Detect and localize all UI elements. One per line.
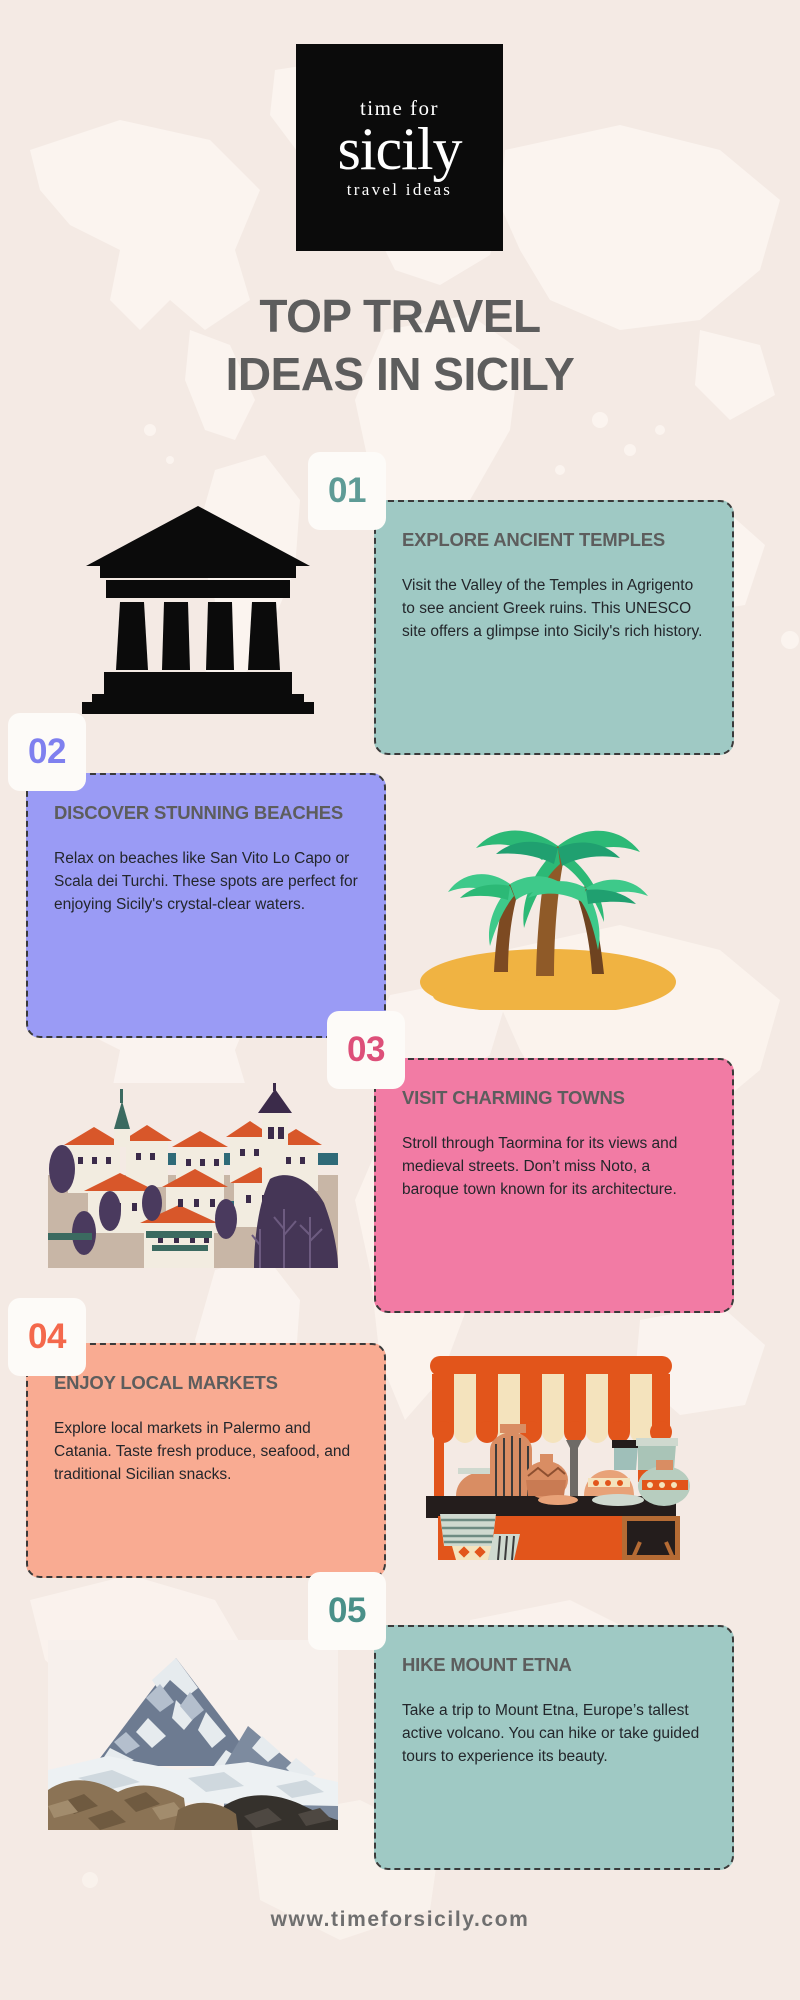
page-title-line-2: IDEAS IN SICILY [0,346,800,404]
card-body-3: Stroll through Taormina for its views an… [402,1132,706,1202]
brand-logo: time for sicily travel ideas [296,44,503,251]
palm-trees-island-icon [408,760,688,1010]
snow-capped-mountain-illustration [48,1640,338,1830]
page-title-line-1: TOP TRAVEL [0,288,800,346]
card-title-4: ENJOY LOCAL MARKETS [54,1371,358,1395]
logo-main-text: sicily [338,121,462,178]
card-visit-charming-towns[interactable]: VISIT CHARMING TOWNS Stroll through Taor… [374,1058,734,1313]
card-body-4: Explore local markets in Palermo and Cat… [54,1417,358,1487]
card-explore-ancient-temples[interactable]: EXPLORE ANCIENT TEMPLES Visit the Valley… [374,500,734,755]
hillside-town-illustration [48,1083,338,1268]
card-title-1: EXPLORE ANCIENT TEMPLES [402,528,706,552]
card-title-3: VISIT CHARMING TOWNS [402,1086,706,1110]
card-body-2: Relax on beaches like San Vito Lo Capo o… [54,847,358,917]
card-enjoy-local-markets[interactable]: ENJOY LOCAL MARKETS Explore local market… [26,1343,386,1578]
card-title-2: DISCOVER STUNNING BEACHES [54,801,358,825]
card-body-1: Visit the Valley of the Temples in Agrig… [402,574,706,644]
card-hike-mount-etna[interactable]: HIKE MOUNT ETNA Take a trip to Mount Etn… [374,1625,734,1870]
page-title: TOP TRAVEL IDEAS IN SICILY [0,288,800,403]
step-number-badge-3: 03 [327,1011,405,1089]
market-stall-pottery-illustration [408,1320,693,1560]
card-discover-stunning-beaches[interactable]: DISCOVER STUNNING BEACHES Relax on beach… [26,773,386,1038]
step-number-badge-2: 02 [8,713,86,791]
step-number-badge-4: 04 [8,1298,86,1376]
step-number-badge-1: 01 [308,452,386,530]
card-title-5: HIKE MOUNT ETNA [402,1653,706,1677]
footer-website-url[interactable]: www.timeforsicily.com [0,1908,800,1932]
greek-temple-icon [78,488,318,718]
step-number-badge-5: 05 [308,1572,386,1650]
logo-bottom-text: travel ideas [347,181,452,198]
card-body-5: Take a trip to Mount Etna, Europe’s tall… [402,1699,706,1769]
